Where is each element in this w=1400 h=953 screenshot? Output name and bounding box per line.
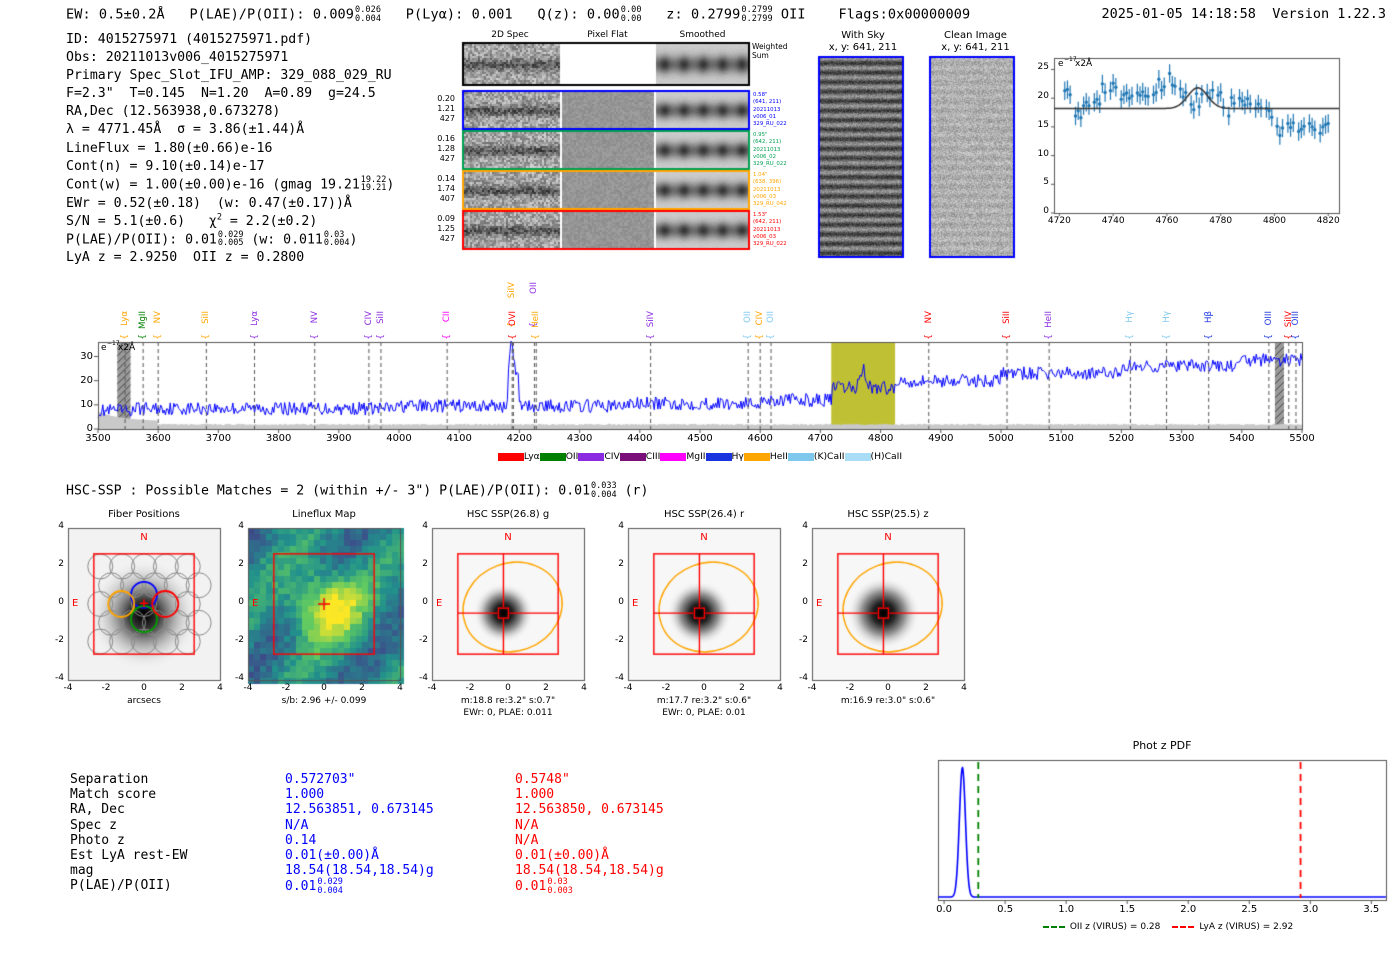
spec2d-row-value: 0.16 [437,135,455,144]
spec2d-row-value: 1.25 [437,225,455,234]
spectrum-line-label: NV [154,311,163,323]
hsc-panel-title: HSC SSP(26.4) r [664,509,744,520]
spectrum-line-brace: { [1163,334,1173,340]
spectrum-xtick: 5200 [1109,433,1134,444]
photz-xtick: 1.0 [1058,904,1074,915]
hsc-caption: s/b: 2.96 +/- 0.099 [282,697,367,707]
hsc-ytick: 0 [618,598,624,608]
spectrum-line-brace: { [756,334,766,340]
spectrum-line-brace: { [647,334,657,340]
spec2d-row-info: 20211013 [753,228,780,234]
legend-swatch [660,453,686,461]
hsc-xtick: 2 [739,684,745,694]
spectrum-legend: LyαOIICIVCIIIMgIIHγHeII(K)CaII(H)CaII [0,451,1400,462]
hsc-xtick: 0 [505,684,511,694]
hsc-ytick: -4 [235,674,244,684]
spectrum-line-label: OIII [1292,311,1301,325]
legend-swatch [578,453,604,461]
hsc-ytick: 2 [802,560,808,570]
hsc-ytick: -4 [799,674,808,684]
hsc-ytick: -2 [55,636,64,646]
legend-label: Lyα [524,451,540,462]
spec2d-row-value: 407 [440,195,455,204]
hsc-panel-title: HSC SSP(26.8) g [467,509,549,520]
spec2d-row-info: 1.53" [753,213,767,219]
photz-legend-label: OII z (VIRUS) = 0.28 [1070,922,1161,932]
legend-swatch [620,453,646,461]
spectrum-xtick: 4400 [627,433,652,444]
hsc-ytick: -2 [419,636,428,646]
spectrum-xtick: 4200 [507,433,532,444]
spectrum-xtick: 3500 [85,433,110,444]
hsc-ytick: -4 [55,674,64,684]
spectrum-line-brace: { [1292,334,1302,340]
photz-legend-swatch [1172,926,1194,928]
spectrum-xtick: 3700 [206,433,231,444]
spec2d-row-info: 1.04" [753,173,767,179]
spectrum-xtick: 4800 [868,433,893,444]
hsc-ytick: 0 [802,598,808,608]
photz-title: Phot z PDF [1133,740,1192,752]
linefit-xtick: 4740 [1102,217,1125,227]
spectrum-line-label: Lyα [251,311,260,326]
spectrum-xtick: 5300 [1169,433,1194,444]
hsc-ytick: 4 [802,522,808,532]
hsc-xtick: 4 [777,684,783,694]
photz-xtick: 1.5 [1119,904,1135,915]
spectrum-line-label: CIV [756,311,765,325]
spectrum-ylabel-unit: x2Å [118,344,135,354]
photz-legend-swatch [1043,926,1065,928]
spectrum-line-brace: { [311,334,321,340]
spectrum-xtick: 4600 [747,433,772,444]
spectrum-xtick: 3900 [326,433,351,444]
spectrum-line-label: HeII [532,311,541,328]
compass-n: N [140,532,147,543]
spectrum-line-brace: { [365,334,375,340]
spectrum-line-label: SiII [202,311,211,324]
spectrum-ylabel-inline: e [101,344,107,354]
photz-xtick: 2.0 [1180,904,1196,915]
spectrum-xtick: 4300 [567,433,592,444]
legend-swatch [788,453,814,461]
linefit-xtick: 4760 [1155,217,1178,227]
legend-label: CIII [646,451,661,462]
hsc-ytick: -2 [615,636,624,646]
spectrum-line-label: Hγ [1163,311,1172,323]
spec2d-row-value: 0.09 [437,215,455,224]
hsc-ytick: 0 [58,598,64,608]
linefit-ytick: 5 [1043,178,1049,188]
spectrum-line-label: CIV [365,311,374,325]
photz-xtick: 2.5 [1241,904,1257,915]
spec2d-row-info: (642, 211) [753,220,781,226]
hsc-xtick: 4 [581,684,587,694]
legend-label: (H)CaII [871,451,903,462]
spectrum-line-label: OII [744,311,753,323]
legend-swatch [845,453,871,461]
spec2d-row-info: v006_02 [753,155,776,161]
hsc-ytick: -2 [235,636,244,646]
spectrum-xtick: 5000 [988,433,1013,444]
spectrum-line-brace: { [1045,334,1055,340]
spectrum-line-brace: { [1205,334,1215,340]
hsc-ytick: 2 [422,560,428,570]
hsc-xtick: -4 [624,684,633,694]
hsc-panel-title: Lineflux Map [292,509,356,520]
spectrum-line-brace: { [1003,334,1013,340]
compass-e: E [632,598,638,609]
compass-n: N [884,532,891,543]
spectrum-line-label: Hγ [1126,311,1135,323]
spec2d-row-info: v006_03 [753,235,776,241]
hsc-xtick: 2 [923,684,929,694]
hsc-xtick: 0 [701,684,707,694]
legend-label: MgII [686,451,705,462]
compass-e: E [816,598,822,609]
legend-label: (K)CaII [814,451,845,462]
spectrum-line-label: OII [767,311,776,323]
spectrum-xtick: 4000 [386,433,411,444]
hsc-xtick: 0 [885,684,891,694]
spectrum-line-brace: { [377,334,387,340]
spec2d-row-info: 20211013 [753,148,780,154]
compass-n: N [504,532,511,543]
legend-swatch [498,453,524,461]
spec2d-row-value: 427 [440,155,455,164]
spectrum-xtick: 4500 [687,433,712,444]
spectrum-line-brace: { [251,334,261,340]
label-overlay: 0.201.214270.58"(641, 211)20211013v006_0… [0,0,1400,953]
spec2d-row-info: 20211013 [753,108,780,114]
spectrum-line-label: OII [530,282,539,294]
hsc-xtick: 4 [961,684,967,694]
hsc-xtick: 2 [359,684,365,694]
hsc-caption: m:16.9 re:3.0" s:0.6" [841,697,935,707]
compass-e: E [252,598,258,609]
spectrum-line-label: HeII [1045,311,1054,328]
spec2d-row-info: (638, 396) [753,180,781,186]
spectrum-ytick: 20 [80,375,93,386]
hsc-xtick: -2 [846,684,855,694]
spectrum-line-label: Lyα [121,311,130,326]
spectrum-xtick: 3600 [145,433,170,444]
hsc-caption: m:18.8 re:3.2" s:0.7" [461,697,555,707]
spectrum-xtick: 4900 [928,433,953,444]
linefit-ytick: 15 [1038,121,1049,131]
legend-label: Hγ [732,451,744,462]
hsc-ytick: -4 [419,674,428,684]
spectrum-line-brace: { [925,334,935,340]
linefit-xtick: 4780 [1209,217,1232,227]
hsc-ytick: 4 [58,522,64,532]
spectrum-line-label: SiIV [647,311,656,327]
spec2d-row-info: 329_RU_022 [753,162,787,168]
legend-swatch [706,453,732,461]
hsc-xtick: -4 [244,684,253,694]
linefit-ylabel-inline: e [1058,60,1064,70]
hsc-ytick: 2 [58,560,64,570]
spec2d-row-value: 427 [440,235,455,244]
hsc-xtick: 4 [217,684,223,694]
spectrum-line-label: OVI [509,311,518,326]
photz-xtick: 0.0 [936,904,952,915]
spectrum-xtick: 5400 [1229,433,1254,444]
hsc-ytick: -2 [799,636,808,646]
compass-e: E [436,598,442,609]
spectrum-line-brace: { [767,334,777,340]
spec2d-row-info: 329_RU_042 [753,202,787,208]
spectrum-line-brace: { [121,334,131,340]
spec2d-row-info: v006_01 [753,115,776,121]
spectrum-line-brace: { [1126,334,1136,340]
spectrum-ytick: 10 [80,399,93,410]
spectrum-line-label: Hβ [1205,311,1214,323]
compass-e: E [72,598,78,609]
spectrum-line-label: NV [311,311,320,323]
hsc-xtick: -2 [466,684,475,694]
spectrum-line-brace: { [1265,334,1275,340]
spec2d-row-value: 0.14 [437,175,455,184]
spec2d-row-info: 329_RU_022 [753,122,787,128]
hsc-xtick: 0 [321,684,327,694]
spectrum-line-brace: { [443,334,453,340]
spectrum-line-label: OIII [1265,311,1274,325]
legend-swatch [540,453,566,461]
spec2d-row-info: 0.95" [753,133,767,139]
hsc-caption: arcsecs [127,697,161,707]
hsc-ytick: 4 [618,522,624,532]
photz-xtick: 3.5 [1363,904,1379,915]
photz-xtick: 3.0 [1302,904,1318,915]
spectrum-line-label: SiII [1003,311,1012,324]
spec2d-row-info: (642, 211) [753,140,781,146]
legend-label: OII [566,451,579,462]
hsc-ytick: 0 [422,598,428,608]
spectrum-xtick: 4700 [808,433,833,444]
hsc-xtick: -4 [808,684,817,694]
linefit-xtick: 4820 [1317,217,1340,227]
spectrum-line-brace: { [532,334,542,340]
spectrum-xtick: 4100 [446,433,471,444]
spectrum-xtick: 5100 [1048,433,1073,444]
linefit-ytick: 20 [1038,92,1049,102]
spec2d-row-info: 20211013 [753,188,780,194]
spectrum-line-brace: { [202,334,212,340]
spec2d-row-info: v006_03 [753,195,776,201]
hsc-caption-secondary: EWr: 0, PLAE: 0.01 [662,709,746,719]
hsc-ytick: -4 [615,674,624,684]
linefit-xtick: 4720 [1048,217,1071,227]
spec2d-row-info: 0.58" [753,93,767,99]
hsc-xtick: -2 [662,684,671,694]
spectrum-line-label: SiIV [508,282,517,298]
spec2d-row-value: 1.74 [437,185,455,194]
spectrum-line-brace: { [139,334,149,340]
spectrum-ytick: 30 [80,351,93,362]
spectrum-line-label: SiII [377,311,386,324]
linefit-xtick: 4800 [1263,217,1286,227]
spec2d-row-value: 0.20 [437,95,455,104]
spectrum-line-label: MgII [139,311,148,329]
photz-legend-label: LyA z (VIRUS) = 2.92 [1199,922,1293,932]
hsc-xtick: 2 [543,684,549,694]
photz-legend: OII z (VIRUS) = 0.28LyA z (VIRUS) = 2.92 [938,922,1386,932]
spectrum-line-label: NV [925,311,934,323]
spectrum-xtick: 5500 [1289,433,1314,444]
linefit-ylabel-unit: x2Å [1075,60,1092,70]
hsc-panel-title: HSC SSP(25.5) z [847,509,928,520]
hsc-caption-secondary: EWr: 0, PLAE: 0.011 [463,709,552,719]
legend-label: CIV [604,451,619,462]
legend-swatch [744,453,770,461]
hsc-ytick: 4 [238,522,244,532]
hsc-xtick: -4 [64,684,73,694]
spec2d-row-info: (641, 211) [753,100,781,106]
spectrum-xtick: 3800 [266,433,291,444]
spectrum-line-brace: { [154,334,164,340]
hsc-xtick: -2 [282,684,291,694]
hsc-ytick: 2 [618,560,624,570]
spec2d-row-value: 1.28 [437,145,455,154]
hsc-ytick: 4 [422,522,428,532]
hsc-xtick: -4 [428,684,437,694]
linefit-ytick: 10 [1038,150,1049,160]
legend-label: HeII [770,451,788,462]
spec2d-row-value: 1.21 [437,105,455,114]
spectrum-line-label: CII [443,311,452,322]
hsc-xtick: -2 [102,684,111,694]
linefit-ytick: 25 [1038,63,1049,73]
hsc-panel-title: Fiber Positions [108,509,180,520]
spec2d-row-info: 329_RU_022 [753,242,787,248]
spec2d-row-value: 427 [440,115,455,124]
compass-n: N [700,532,707,543]
hsc-xtick: 2 [179,684,185,694]
photz-xtick: 0.5 [997,904,1013,915]
spectrum-line-brace: { [509,334,519,340]
hsc-xtick: 0 [141,684,147,694]
hsc-ytick: 2 [238,560,244,570]
hsc-caption: m:17.7 re:3.2" s:0.6" [657,697,751,707]
spectrum-line-brace: { [744,334,754,340]
hsc-xtick: 4 [397,684,403,694]
hsc-ytick: 0 [238,598,244,608]
